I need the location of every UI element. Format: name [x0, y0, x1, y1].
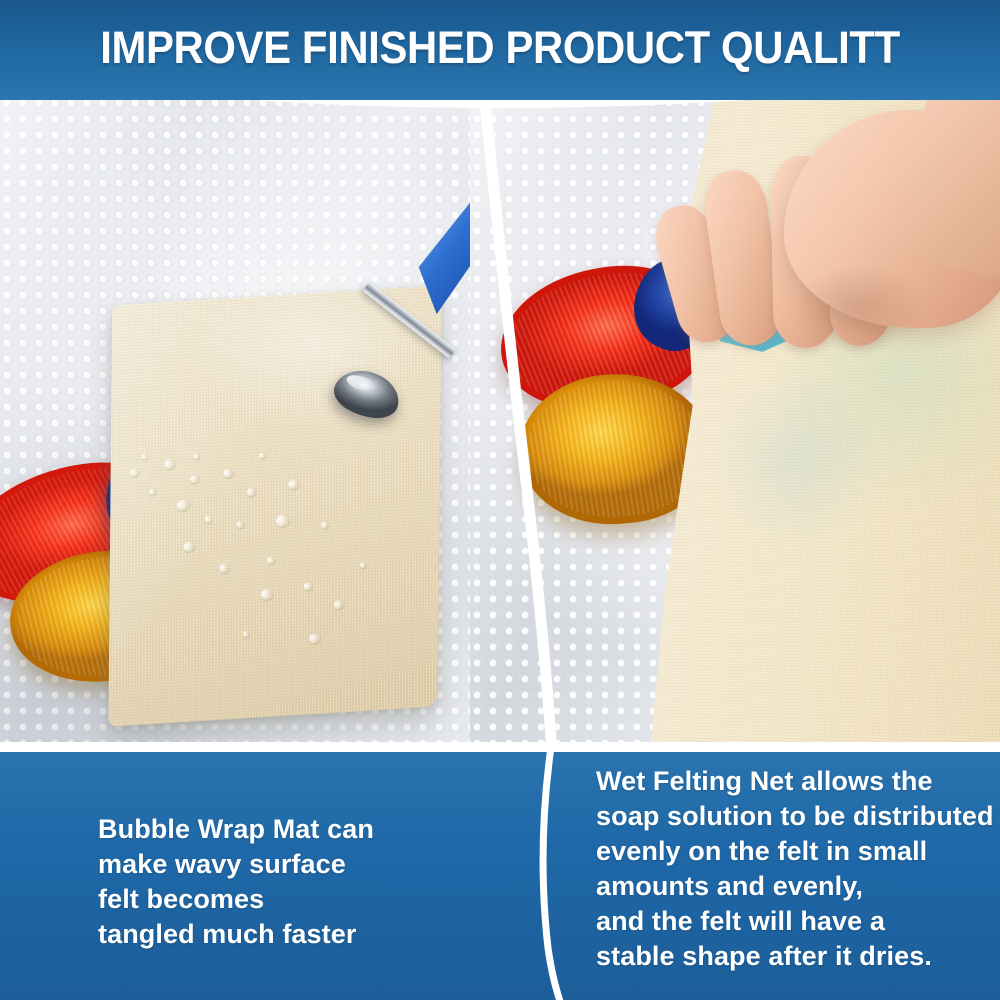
- hand: [660, 116, 1000, 396]
- photo-caption-seam: [0, 744, 1000, 752]
- header-banner: IMPROVE FINISHED PRODUCT QUALITT: [0, 0, 1000, 100]
- panel-left-bubble-wrap-photo: [0, 96, 530, 748]
- panel-right-felting-net-photo: [470, 96, 1000, 748]
- sprinkler-head: [329, 363, 405, 425]
- caption-right-text: Wet Felting Net allows the soap solution…: [596, 764, 1000, 974]
- photo-comparison-band: [0, 96, 1000, 748]
- hand-shading: [780, 236, 970, 366]
- page-title: IMPROVE FINISHED PRODUCT QUALITT: [35, 0, 965, 100]
- product-feature-poster: IMPROVE FINISHED PRODUCT QUALITT: [0, 0, 1000, 1000]
- caption-left-text: Bubble Wrap Mat can make wavy surface fe…: [98, 812, 498, 952]
- caption-band: Bubble Wrap Mat can make wavy surface fe…: [0, 748, 1000, 1000]
